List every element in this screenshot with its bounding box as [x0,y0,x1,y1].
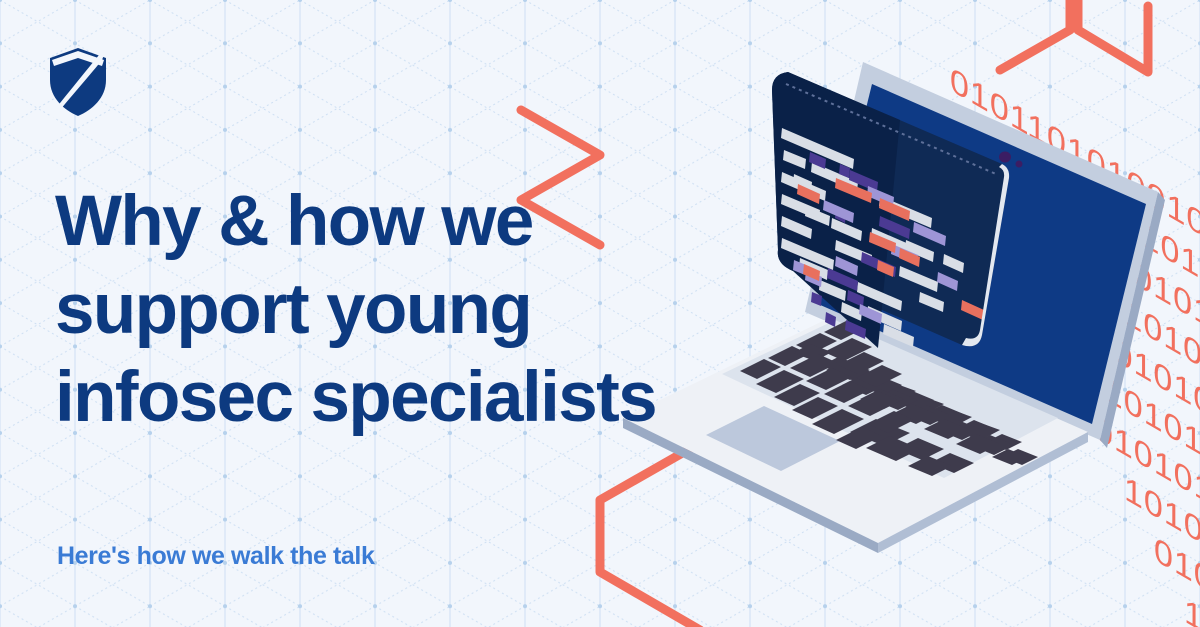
camera-dot-small [1016,161,1023,168]
shield-logo[interactable] [46,44,110,120]
camera-dot [999,152,1011,163]
marketing-banner: 010110101001010110101010101 010101011010… [0,0,1200,627]
page-subtitle: Here's how we walk the talk [57,542,374,571]
page-title: Why & how we support young infosec speci… [55,178,675,442]
